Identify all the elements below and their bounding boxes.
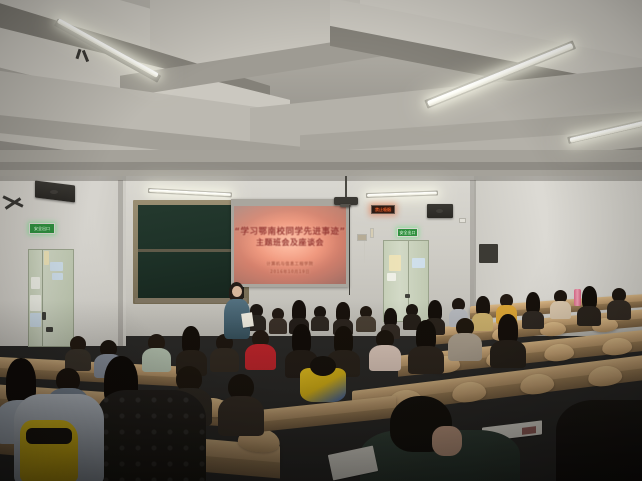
exit-sign-right-text: 安全出口 [400, 231, 416, 235]
torso [408, 346, 444, 374]
torso [369, 345, 401, 371]
torso [142, 348, 171, 372]
torso [607, 300, 631, 320]
door-handle[interactable] [42, 312, 46, 320]
wall-mounted-box [479, 244, 498, 263]
torso [356, 316, 376, 332]
exit-sign-left: 安全出口 [29, 223, 55, 234]
torso [311, 316, 329, 331]
presenter-papers [241, 312, 254, 327]
door-notice [52, 273, 63, 280]
hanging-cord [364, 241, 365, 263]
projection-screen: “学习鄂南校同学先进事迹” 主题班会及座谈会 计算机与信息工程学院 2016年1… [234, 206, 346, 284]
wall-ceiling-joint [0, 176, 642, 181]
door-notice [30, 313, 41, 327]
door-left-split [42, 250, 43, 346]
torso [218, 396, 264, 436]
torso [269, 318, 287, 334]
ceiling-beam [0, 162, 642, 170]
door-notice [412, 258, 425, 268]
torso [448, 333, 482, 361]
head [310, 356, 336, 376]
exit-sign-right: 安全出口 [397, 228, 418, 237]
torso [522, 311, 544, 329]
chalkboard-surface [138, 205, 244, 299]
chalkboard-rail [138, 249, 244, 252]
torso [210, 348, 239, 372]
projector-mount-pole [345, 176, 347, 198]
door-handle[interactable] [405, 294, 410, 298]
door-notice [30, 295, 41, 311]
door-notice [387, 273, 396, 281]
torso [490, 340, 526, 368]
presenter-head [232, 286, 242, 297]
torso [550, 301, 571, 319]
torso-red-jacket [245, 344, 276, 370]
backpack-strap [26, 428, 72, 444]
water-bottle [574, 289, 581, 306]
torso [577, 306, 601, 326]
led-notice-sign: 禁止吸烟 [371, 205, 395, 214]
slide-date: 2016年10月19日 [234, 269, 346, 275]
lecture-hall-photo: “学习鄂南校同学先进事迹” 主题班会及座谈会 计算机与信息工程学院 2016年1… [0, 0, 642, 481]
dark-jacket [556, 400, 642, 481]
led-sign-text: 禁止吸烟 [375, 207, 391, 213]
wall-fixture [357, 234, 367, 241]
slide-title: “学习鄂南校同学先进事迹” [234, 225, 346, 237]
wall-poster [370, 228, 374, 238]
wall-outlet-plate [459, 218, 466, 223]
door-notice [389, 255, 401, 271]
torso [472, 313, 493, 331]
door-notice [44, 251, 49, 265]
door-notice [31, 277, 40, 289]
wall-corner-left [118, 180, 123, 348]
speaker-grill [436, 209, 443, 213]
door-handle[interactable] [46, 327, 53, 332]
slide-organizer: 计算机与信息工程学院 [234, 261, 346, 267]
patterned-jacket [96, 390, 206, 481]
slide-subtitle: 主题班会及座谈会 [234, 237, 346, 248]
exit-sign-left-text: 安全出口 [34, 227, 50, 231]
ear-neck-skin [432, 426, 462, 456]
projector-cable [349, 205, 350, 295]
speaker-grill [50, 190, 58, 194]
ceiling [0, 0, 642, 190]
door-notice [50, 262, 63, 271]
